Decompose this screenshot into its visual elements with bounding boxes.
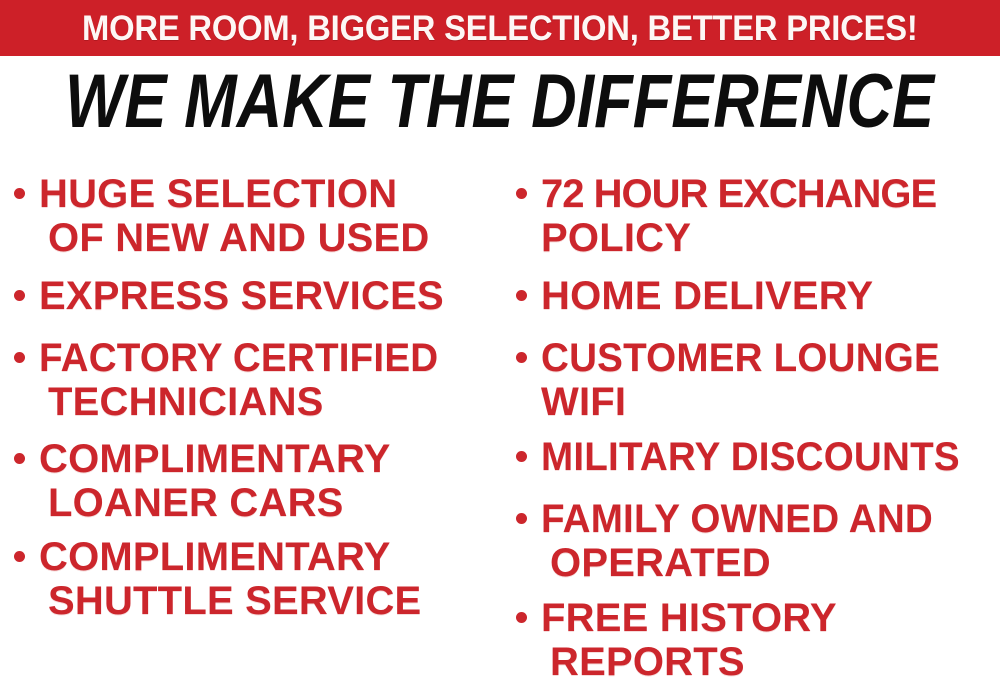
top-banner: MORE ROOM, BIGGER SELECTION, BETTER PRIC… [0,0,1000,56]
list-item: CUSTOMER LOUNGE WIFI [516,336,954,424]
bullet-dot-icon [516,188,527,199]
bullet-dot-icon [516,612,527,623]
list-item-text: COMPLIMENTARY LOANER CARS [39,437,390,525]
list-item-text: HUGE SELECTION OF NEW AND USED [39,172,430,260]
list-item-line: WIFI [541,380,954,424]
bullet-dot-icon [14,551,25,562]
list-item-line: MILITARY DISCOUNTS [541,435,960,479]
list-item-text: FREE HISTORY REPORTS [541,596,837,684]
list-item: COMPLIMENTARY SHUTTLE SERVICE [14,535,421,623]
headline-container: WE MAKE THE DIFFERENCE [0,64,1000,140]
list-item: FACTORY CERTIFIED TECHNICIANS [14,336,453,424]
bullet-dot-icon [516,451,527,462]
list-item: HUGE SELECTION OF NEW AND USED [14,172,430,260]
list-item-text: HOME DELIVERY [541,274,873,318]
page-title: WE MAKE THE DIFFERENCE [65,64,934,140]
list-item-line: FREE HISTORY [541,596,837,640]
list-item-text: MILITARY DISCOUNTS [541,435,975,479]
list-item-text: EXPRESS SERVICES [39,274,444,318]
list-item-line: OF NEW AND USED [39,216,430,260]
bullet-dot-icon [516,352,527,363]
list-item: HOME DELIVERY [516,274,873,318]
list-item: FREE HISTORY REPORTS [516,596,837,684]
list-item-line: TECHNICIANS [39,380,453,424]
bullet-dot-icon [516,513,527,524]
bullet-dot-icon [14,352,25,363]
promo-poster: MORE ROOM, BIGGER SELECTION, BETTER PRIC… [0,0,1000,694]
list-item-line: FAMILY OWNED AND [541,497,933,541]
list-item-line: OPERATED [541,541,947,585]
list-item-line: COMPLIMENTARY [39,437,390,481]
list-item-line: POLICY [541,216,936,260]
bullet-dot-icon [14,290,25,301]
list-item: EXPRESS SERVICES [14,274,444,318]
list-item-text: FAMILY OWNED AND OPERATED [541,497,947,585]
list-item-line: COMPLIMENTARY [39,535,421,579]
list-item-line: EXPRESS SERVICES [39,274,444,318]
list-item-line: 72 HOUR EXCHANGE [541,172,936,216]
bullet-dot-icon [14,188,25,199]
banner-headline-text: MORE ROOM, BIGGER SELECTION, BETTER PRIC… [82,11,918,46]
list-item-text: 72 HOUR EXCHANGE POLICY [541,172,936,260]
list-item: MILITARY DISCOUNTS [516,435,975,479]
list-item-line: HUGE SELECTION [39,172,430,216]
list-item-line: CUSTOMER LOUNGE [541,336,940,380]
bullet-dot-icon [14,453,25,464]
list-item-text: FACTORY CERTIFIED TECHNICIANS [39,336,453,424]
list-item-text: COMPLIMENTARY SHUTTLE SERVICE [39,535,421,623]
list-item-text: CUSTOMER LOUNGE WIFI [541,336,954,424]
list-item-line: HOME DELIVERY [541,274,873,318]
benefits-columns: HUGE SELECTION OF NEW AND USED EXPRESS S… [0,160,1000,694]
list-item: FAMILY OWNED AND OPERATED [516,497,947,585]
list-item-line: REPORTS [541,640,837,684]
bullet-dot-icon [516,290,527,301]
list-item: 72 HOUR EXCHANGE POLICY [516,172,936,260]
list-item-line: LOANER CARS [39,481,390,525]
list-item: COMPLIMENTARY LOANER CARS [14,437,390,525]
list-item-line: SHUTTLE SERVICE [39,579,421,623]
list-item-line: FACTORY CERTIFIED [39,336,438,380]
